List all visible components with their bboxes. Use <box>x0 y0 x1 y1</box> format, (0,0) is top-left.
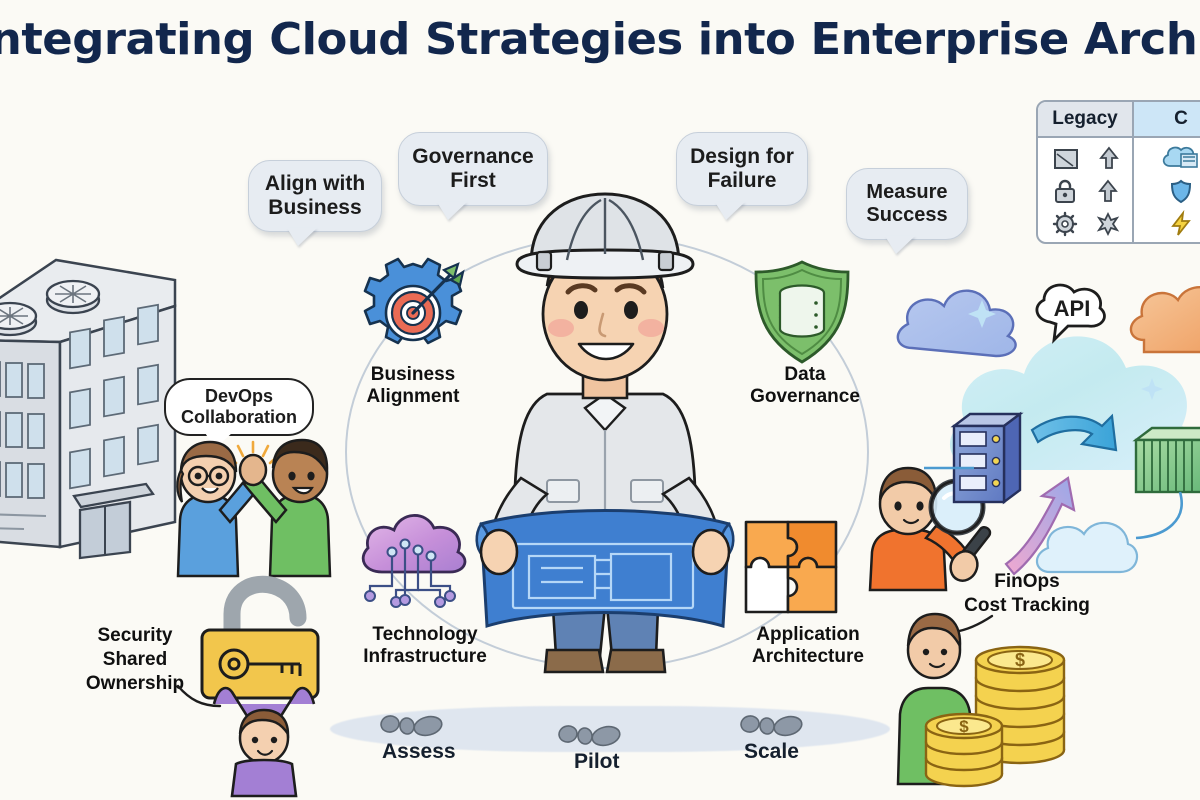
table-header-cloud: C <box>1134 102 1200 136</box>
lightning-icon <box>1170 212 1192 236</box>
footprints-pilot-icon <box>558 724 622 750</box>
central-engineer <box>455 188 755 700</box>
legacy-vs-cloud-table: Legacy C <box>1036 100 1200 244</box>
finops-kid: $ $ <box>888 604 1084 784</box>
table-row <box>1042 144 1128 173</box>
padlock-icon <box>1053 179 1077 203</box>
label-line-1: Security <box>70 624 200 648</box>
bubble-line-1: Design for <box>690 145 794 169</box>
sparkle-icon <box>1098 212 1118 236</box>
speech-bubble-devops-collaboration: DevOps Collaboration <box>164 378 314 436</box>
gear-target-arrow-icon <box>358 258 468 368</box>
table-row <box>1042 177 1128 206</box>
label-line-2: Shared <box>70 648 200 672</box>
devops-pair <box>158 436 348 576</box>
table-column-legacy <box>1038 138 1134 244</box>
table-header-row: Legacy C <box>1038 102 1200 138</box>
table-row <box>1138 144 1200 173</box>
up-arrow-icon <box>1099 179 1117 203</box>
table-column-cloud <box>1134 138 1200 244</box>
bubble-line-2: Business <box>265 196 365 220</box>
shield-icon <box>1169 179 1193 203</box>
cloud-storage-icon <box>1161 146 1200 170</box>
bubble-line-1: DevOps <box>181 386 297 407</box>
shield-database-icon <box>748 258 856 368</box>
security-label-pointer <box>176 684 222 712</box>
page-title: Integrating Cloud Strategies into Enterp… <box>0 14 1200 65</box>
speech-bubble-measure-success: Measure Success <box>846 168 968 240</box>
svg-text:$: $ <box>1015 650 1025 670</box>
journey-step-pilot: Pilot <box>574 750 620 774</box>
bubble-line-2: Success <box>866 204 947 227</box>
bubble-line-1: Measure <box>866 181 947 204</box>
speech-bubble-align-with-business: Align with Business <box>248 160 382 232</box>
table-header-legacy: Legacy <box>1038 102 1134 136</box>
journey-step-scale: Scale <box>744 740 799 764</box>
footprints-scale-icon <box>740 714 804 740</box>
puzzle-icon <box>742 518 840 616</box>
table-row <box>1138 177 1200 206</box>
journey-step-assess: Assess <box>382 740 456 764</box>
bubble-line-2: Collaboration <box>181 407 297 428</box>
illustration-canvas: Integrating Cloud Strategies into Enterp… <box>0 0 1200 800</box>
svg-text:$: $ <box>959 717 969 736</box>
table-row <box>1138 209 1200 238</box>
bubble-line-1: Align with <box>265 172 365 196</box>
gear-icon <box>1052 212 1078 236</box>
hybrid-cloud-scene: API <box>930 280 1200 580</box>
footprints-assess-icon <box>380 714 444 740</box>
up-arrow-icon <box>1100 146 1118 170</box>
api-bubble-text: API <box>1054 296 1091 321</box>
table-row <box>1042 209 1128 238</box>
server-box-icon <box>1053 146 1079 170</box>
bubble-line-1: Governance <box>412 145 533 169</box>
